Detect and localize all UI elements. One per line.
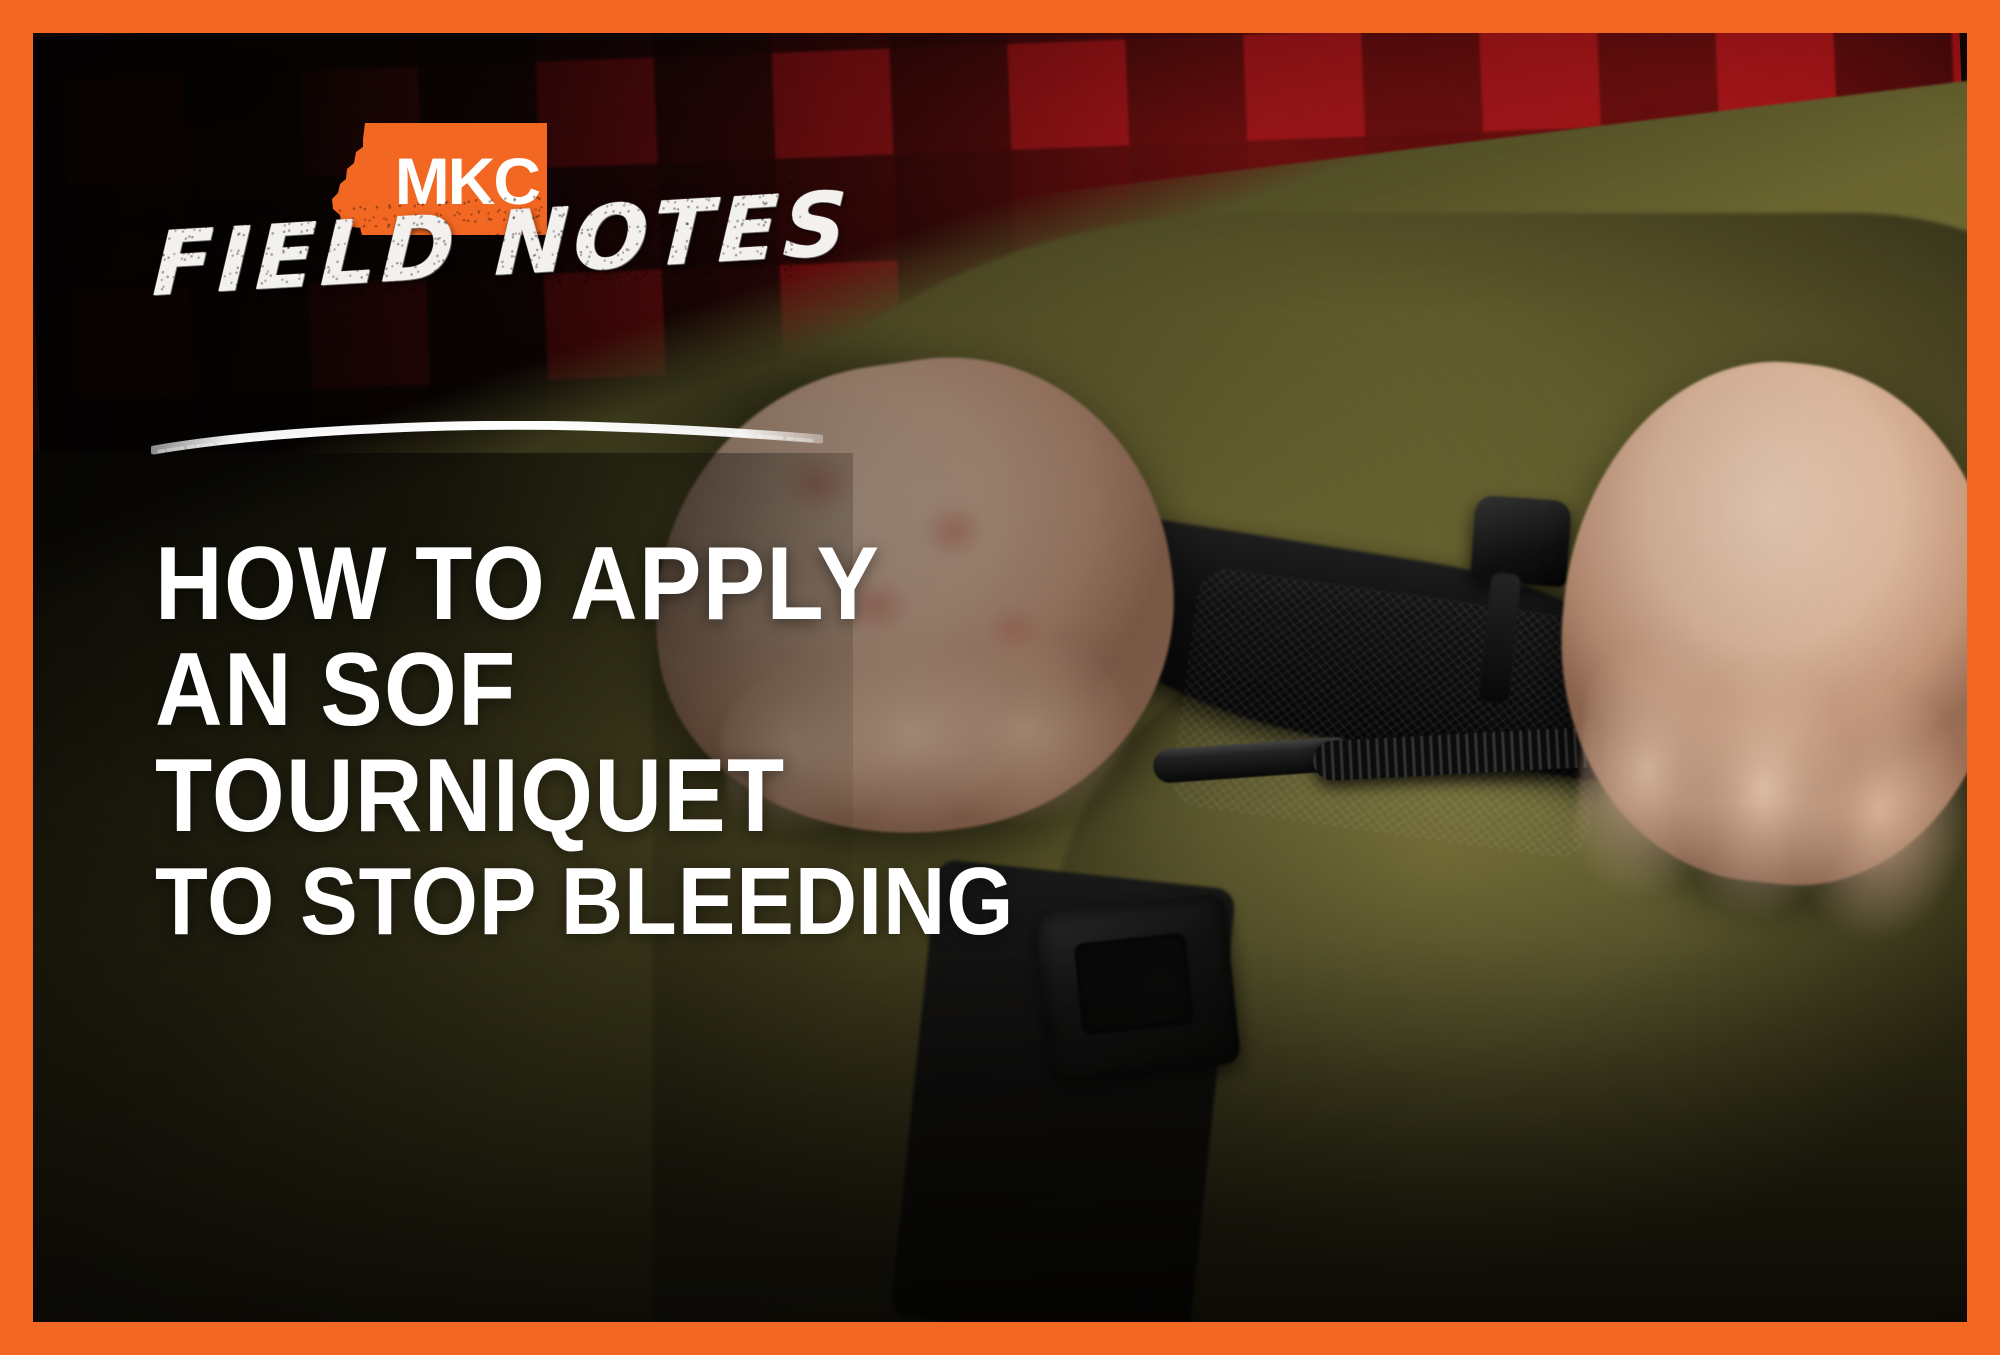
title-line-2: AN SOF — [155, 641, 1325, 741]
title-line-4: TO STOP BLEEDING — [155, 856, 1325, 948]
title-line-1: HOW TO APPLY — [155, 535, 1325, 635]
background-photo: MKC FIELD NOTES HOW — [33, 33, 1967, 1322]
page-title: HOW TO APPLY AN SOF TOURNIQUET TO STOP B… — [155, 535, 1455, 949]
title-line-3: TOURNIQUET — [155, 747, 1325, 847]
video-thumbnail-card: MKC FIELD NOTES HOW — [0, 0, 2000, 1355]
tourniquet-windlass-clip — [1470, 495, 1572, 587]
